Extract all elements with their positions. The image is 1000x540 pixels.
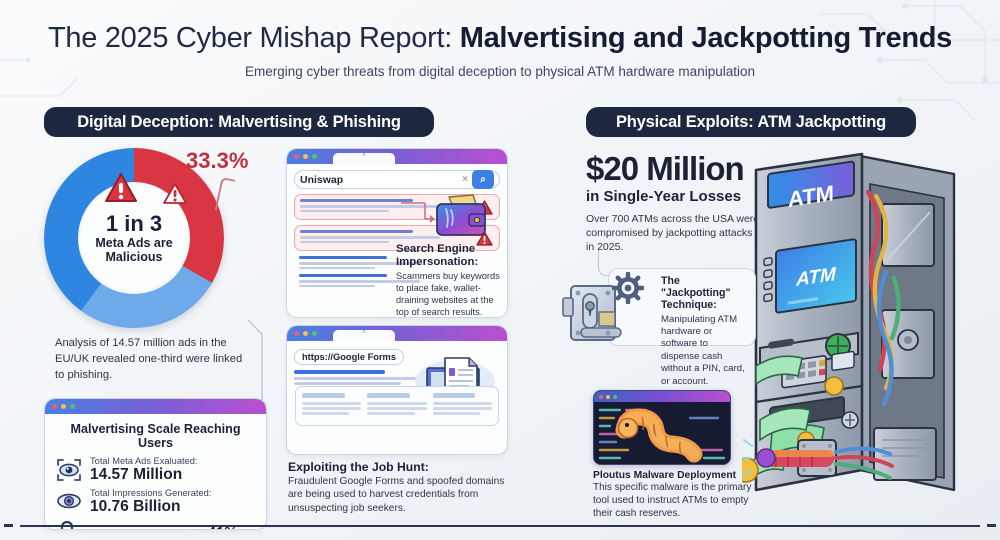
malicious-ads-donut-chart: 1 in 3 Meta Ads are Malicious	[44, 148, 224, 328]
malware-worm-illustration	[594, 402, 730, 465]
search-query-value: Uniswap	[300, 174, 343, 186]
maximize-dot-icon[interactable]	[613, 395, 617, 399]
gear-icon	[612, 272, 644, 304]
eye-scan-icon	[55, 457, 83, 483]
stat-value: 14.57 Million	[90, 466, 198, 483]
url-chip[interactable]: https://Google Forms	[294, 349, 404, 365]
job-hunt-body: Fraudulent Google Forms and spoofed doma…	[288, 475, 506, 515]
section-header-digital-deception: Digital Deception: Malvertising & Phishi…	[44, 107, 434, 137]
maximize-dot-icon[interactable]	[312, 331, 317, 336]
search-icon[interactable]: ⌕	[472, 170, 494, 189]
browser-titlebar	[287, 326, 507, 341]
browser-tab[interactable]	[333, 153, 395, 164]
minimize-dot-icon[interactable]	[606, 395, 610, 399]
donut-ring: 1 in 3 Meta Ads are Malicious	[44, 148, 224, 328]
stat-label: Total Meta Ads Exaluated:	[90, 456, 198, 466]
minimize-dot-icon[interactable]	[303, 331, 308, 336]
google-forms-phishing-card: https://Google Forms	[286, 325, 508, 455]
donut-center-sub: Meta Ads are Malicious	[78, 236, 190, 264]
ploutus-malware-window	[593, 390, 731, 465]
donut-percent-label: 33.3%	[186, 148, 248, 174]
search-impersonation-heading: Search Engine Impersonation:	[396, 243, 506, 269]
donut-caption: Analysis of 14.57 million ads in the EU/…	[55, 335, 251, 384]
ploutus-heading: Ploutus Malware Deployment	[593, 470, 753, 481]
stat-label: Attacks via Malvertising:	[90, 528, 204, 530]
stat-row-ads-evaluated: Total Meta Ads Exaluated: 14.57 Million	[55, 456, 256, 484]
minimize-dot-icon[interactable]	[303, 154, 308, 159]
window-titlebar	[594, 391, 730, 402]
close-dot-icon[interactable]	[294, 331, 299, 336]
close-dot-icon[interactable]	[294, 154, 299, 159]
stat-row-impressions: Total Impressions Generated: 10.76 Billi…	[55, 488, 256, 516]
job-hunt-text: Exploiting the Job Hunt: Fraudulent Goog…	[288, 460, 506, 515]
footer-rule	[20, 525, 980, 527]
ploutus-text: Ploutus Malware Deployment This specific…	[593, 470, 753, 520]
donut-center-headline: 1 in 3	[106, 212, 162, 235]
stat-label: Total Impressions Generated:	[90, 488, 211, 498]
warning-triangle-outline-icon	[162, 182, 188, 206]
maximize-dot-icon[interactable]	[312, 154, 317, 159]
search-impersonation-text: Search Engine Impersonation: Scammers bu…	[396, 243, 506, 319]
title-light: The 2025 Cyber Mishap Report:	[48, 22, 460, 54]
header: The 2025 Cyber Mishap Report: Malvertisi…	[0, 22, 1000, 79]
stats-card-title: Malvertising Scale Reaching Users	[55, 422, 256, 450]
drain-arrow-icon	[399, 197, 435, 233]
minimize-dot-icon[interactable]	[61, 404, 66, 409]
title-bold: Malvertising and Jackpotting Trends	[460, 22, 952, 54]
page-title: The 2025 Cyber Mishap Report: Malvertisi…	[0, 22, 1000, 55]
page-subtitle: Emerging cyber threats from digital dece…	[0, 64, 1000, 79]
technique-heading: The "Jackpotting" Technique:	[661, 275, 747, 312]
technique-body: Manipulating ATM hardware or software to…	[661, 314, 747, 389]
warning-triangle-icon	[104, 172, 138, 204]
caption-connector	[246, 318, 276, 406]
losses-body: Over 700 ATMs across the USA were compro…	[586, 212, 761, 255]
browser-titlebar	[287, 149, 507, 164]
maximize-dot-icon[interactable]	[70, 404, 75, 409]
ploutus-body: This specific malware is the primary too…	[593, 481, 753, 520]
clear-search-icon[interactable]: ×	[462, 174, 468, 185]
search-impersonation-body: Scammers buy keywords to place fake, wal…	[396, 271, 506, 319]
wallet-icon	[433, 193, 489, 239]
stat-value: 10.76 Billion	[90, 498, 211, 515]
job-hunt-heading: Exploiting the Job Hunt:	[288, 460, 506, 474]
search-input[interactable]: Uniswap × ⌕	[294, 170, 500, 189]
window-titlebar	[45, 399, 266, 414]
malvertising-scale-card: Malvertising Scale Reaching Users Total …	[44, 398, 267, 530]
browser-tab[interactable]	[333, 330, 395, 341]
eye-icon	[55, 490, 83, 512]
close-dot-icon[interactable]	[599, 395, 603, 399]
section-header-atm-jackpotting: Physical Exploits: ATM Jackpotting	[586, 107, 916, 137]
atm-machine-illustration: ATM ATM	[742, 140, 998, 530]
close-dot-icon[interactable]	[52, 404, 57, 409]
